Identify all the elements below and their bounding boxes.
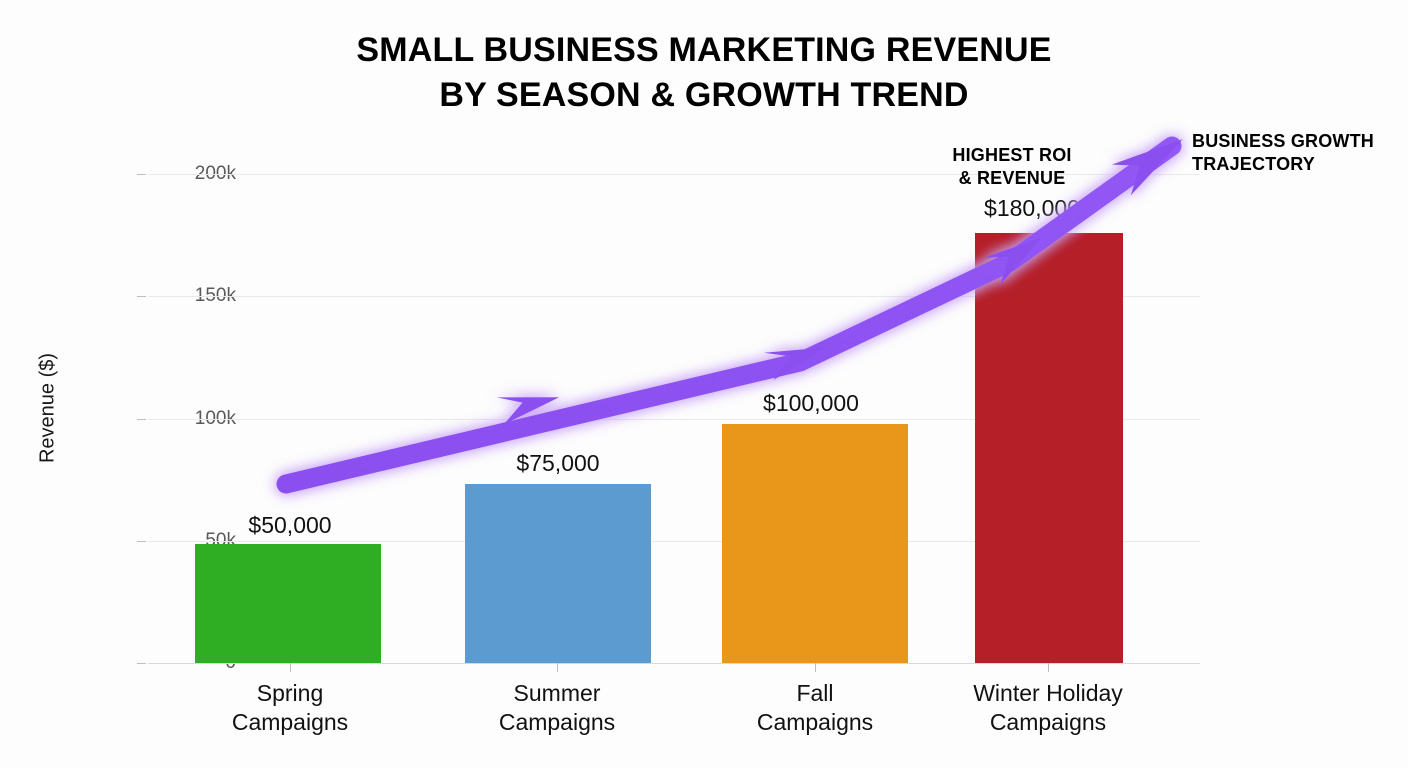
chart-title-line-2: BY SEASON & GROWTH TREND	[0, 73, 1408, 118]
x-category-fall: Fall Campaigns	[757, 679, 873, 738]
bar-value-winter: $180,000	[984, 195, 1080, 222]
x-tick-summer	[557, 663, 558, 672]
x-category-fall-line-2: Campaigns	[757, 708, 873, 737]
y-axis-label: Revenue ($)	[37, 353, 60, 463]
y-tick-100k	[137, 419, 146, 420]
chart-title-line-1: SMALL BUSINESS MARKETING REVENUE	[0, 28, 1408, 73]
x-tick-spring	[290, 663, 291, 672]
bar-value-summer: $75,000	[516, 450, 599, 477]
bar-spring[interactable]	[195, 544, 381, 663]
x-tick-fall	[815, 663, 816, 672]
x-category-winter-holiday-line-1: Winter Holiday	[973, 679, 1123, 708]
annotation-growth-trajectory-line-2: TRAJECTORY	[1192, 153, 1374, 176]
y-tick-0	[137, 663, 146, 664]
annotation-growth-trajectory: BUSINESS GROWTH TRAJECTORY	[1192, 130, 1374, 176]
bar-value-spring: $50,000	[248, 512, 331, 539]
x-category-winter-holiday: Winter Holiday Campaigns	[973, 679, 1123, 738]
annotation-highest-roi-line-1: HIGHEST ROI	[952, 144, 1071, 167]
x-category-summer: Summer Campaigns	[499, 679, 615, 738]
x-category-spring: Spring Campaigns	[232, 679, 348, 738]
bar-value-fall: $100,000	[763, 390, 859, 417]
annotation-growth-trajectory-line-1: BUSINESS GROWTH	[1192, 130, 1374, 153]
chart-canvas: SMALL BUSINESS MARKETING REVENUE BY SEAS…	[0, 0, 1408, 768]
x-tick-winter	[1048, 663, 1049, 672]
bar-fall[interactable]	[722, 424, 908, 663]
x-category-summer-line-2: Campaigns	[499, 708, 615, 737]
y-tick-50k	[137, 541, 146, 542]
bar-winter-holiday[interactable]	[975, 233, 1123, 663]
x-category-spring-line-1: Spring	[232, 679, 348, 708]
annotation-highest-roi-line-2: & REVENUE	[952, 167, 1071, 190]
x-category-summer-line-1: Summer	[499, 679, 615, 708]
y-tick-150k	[137, 296, 146, 297]
chart-title: SMALL BUSINESS MARKETING REVENUE BY SEAS…	[0, 28, 1408, 118]
y-tick-200k	[137, 174, 146, 175]
x-axis-line	[148, 663, 1200, 664]
x-category-spring-line-2: Campaigns	[232, 708, 348, 737]
x-category-winter-holiday-line-2: Campaigns	[973, 708, 1123, 737]
x-category-fall-line-1: Fall	[757, 679, 873, 708]
plot-area	[148, 150, 1200, 663]
bar-summer[interactable]	[465, 484, 651, 663]
annotation-highest-roi: HIGHEST ROI & REVENUE	[952, 144, 1071, 190]
